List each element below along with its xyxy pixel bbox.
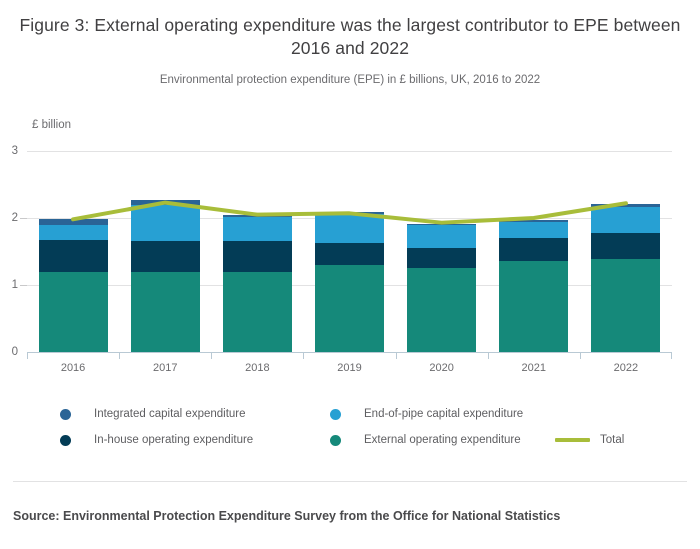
legend-dot-swatch-icon (330, 435, 341, 446)
total-line-layer (27, 151, 672, 352)
x-axis-label-2021: 2021 (522, 362, 546, 374)
chart-subtitle: Environmental protection expenditure (EP… (18, 72, 682, 88)
y-tick-label: 0 (12, 346, 18, 358)
legend-dot-swatch-icon (60, 409, 71, 420)
chart-header: Figure 3: External operating expenditure… (0, 0, 700, 88)
y-tick-mark (20, 218, 27, 219)
x-tick-separator (580, 352, 581, 359)
legend-item[interactable]: Integrated capital expenditure (60, 408, 246, 420)
legend-dot-swatch-icon (330, 409, 341, 420)
y-axis-unit-label: £ billion (32, 118, 71, 132)
legend-item[interactable]: External operating expenditure (330, 434, 521, 446)
x-axis-label-2019: 2019 (337, 362, 361, 374)
x-axis: 2016201720182019202020212022 (27, 352, 672, 382)
legend-label: Integrated capital expenditure (94, 408, 246, 420)
legend-label: In-house operating expenditure (94, 434, 253, 446)
x-axis-label-2017: 2017 (153, 362, 177, 374)
x-tick-separator (211, 352, 212, 359)
chart-title: Figure 3: External operating expenditure… (18, 14, 682, 60)
plot-wrapper: £ billion 0123 2016201720182019202020212… (0, 118, 700, 383)
legend-label: End-of-pipe capital expenditure (364, 408, 523, 420)
y-tick-label: 1 (12, 279, 18, 291)
legend-item[interactable]: In-house operating expenditure (60, 434, 253, 446)
x-tick-separator (488, 352, 489, 359)
x-axis-label-2020: 2020 (429, 362, 453, 374)
legend-dot-swatch-icon (60, 435, 71, 446)
x-tick-separator (671, 352, 672, 359)
plot-area: 0123 (27, 151, 672, 352)
legend-label: Total (600, 434, 624, 446)
x-tick-separator (303, 352, 304, 359)
x-tick-separator (27, 352, 28, 359)
legend-item[interactable]: Total (555, 434, 624, 446)
legend-line-swatch-icon (555, 438, 590, 442)
y-tick-mark (20, 285, 27, 286)
legend-item[interactable]: End-of-pipe capital expenditure (330, 408, 523, 420)
x-axis-label-2018: 2018 (245, 362, 269, 374)
chart-figure: Figure 3: External operating expenditure… (0, 0, 700, 549)
x-tick-separator (119, 352, 120, 359)
x-axis-label-2022: 2022 (614, 362, 638, 374)
legend-label: External operating expenditure (364, 434, 521, 446)
chart-legend: Integrated capital expenditureEnd-of-pip… (0, 400, 700, 460)
y-tick-label: 3 (12, 145, 18, 157)
source-note: Source: Environmental Protection Expendi… (13, 509, 560, 523)
total-line (73, 203, 626, 223)
x-axis-label-2016: 2016 (61, 362, 85, 374)
footer-divider (13, 481, 687, 482)
y-tick-label: 2 (12, 212, 18, 224)
x-tick-separator (396, 352, 397, 359)
